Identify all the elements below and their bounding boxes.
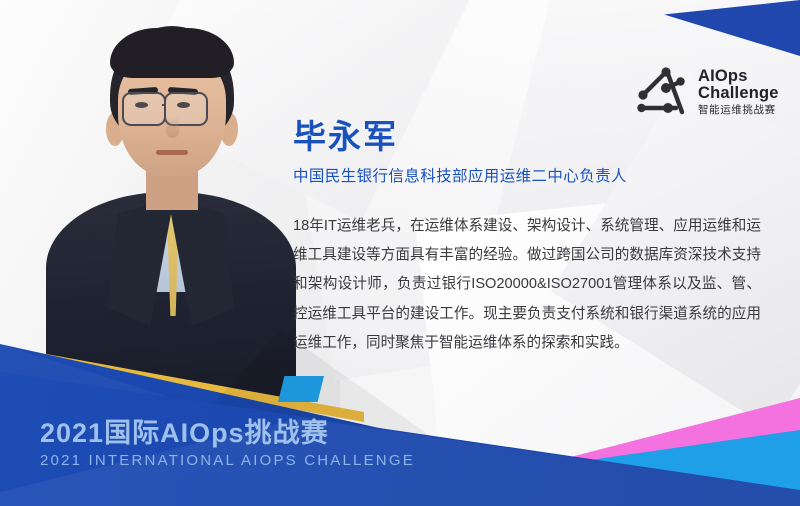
event-title-english: 2021 INTERNATIONAL AIOPS CHALLENGE <box>40 452 415 469</box>
logo-chinese-tagline: 智能运维挑战赛 <box>698 105 779 116</box>
speaker-info-block: 毕永军 中国民生银行信息科技部应用运维二中心负责人 18年IT运维老兵，在运维体… <box>293 118 763 358</box>
portrait-glasses-bridge <box>162 104 166 106</box>
aiops-triangle-node-logo-icon <box>630 62 690 122</box>
portrait-mouth <box>156 150 188 155</box>
portrait-fringe <box>110 28 234 78</box>
speaker-name: 毕永军 <box>293 118 763 156</box>
speaker-portrait <box>52 0 288 400</box>
portrait-nose <box>166 116 179 138</box>
aiops-challenge-logo: AIOps Challenge 智能运维挑战赛 <box>630 62 779 122</box>
portrait-glasses-left <box>122 92 166 126</box>
logo-text-block: AIOps Challenge 智能运维挑战赛 <box>698 68 779 116</box>
event-title-block: 2021国际AIOps挑战赛 2021 INTERNATIONAL AIOPS … <box>40 418 415 469</box>
speaker-profile-banner: AIOps Challenge 智能运维挑战赛 毕永军 中国民生银行信息科技部应… <box>0 0 800 506</box>
logo-line-2: Challenge <box>698 85 779 102</box>
logo-line-1: AIOps <box>698 68 779 85</box>
speaker-biography: 18年IT运维老兵，在运维体系建设、架构设计、系统管理、应用运维和运维工具建设等… <box>293 212 761 358</box>
speaker-title: 中国民生银行信息科技部应用运维二中心负责人 <box>293 164 763 186</box>
event-title-chinese: 2021国际AIOps挑战赛 <box>40 418 415 448</box>
